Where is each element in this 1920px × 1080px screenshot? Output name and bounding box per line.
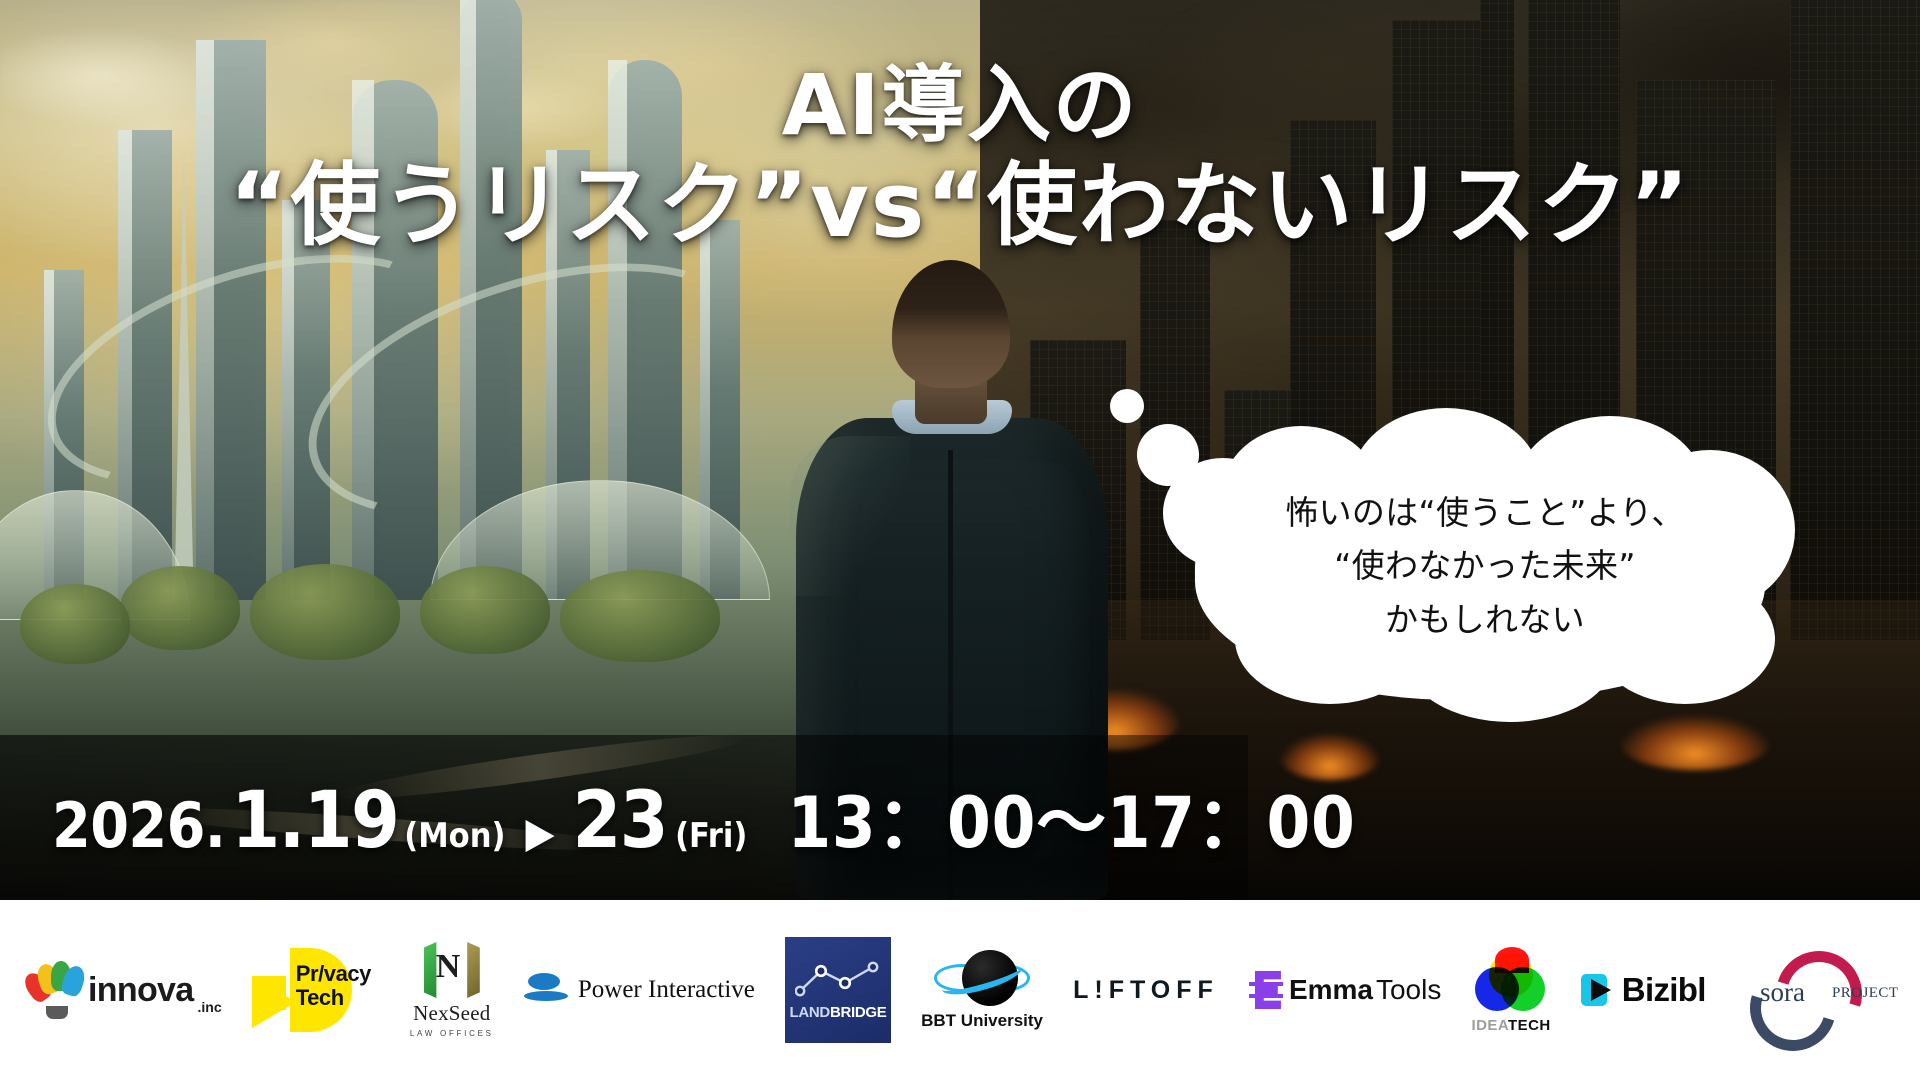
privacytech-label-top: Pr/vacy xyxy=(296,962,371,986)
schedule-year: 2026. xyxy=(52,789,225,862)
utopian-foliage xyxy=(250,564,400,660)
ideatech-label-a: IDEA xyxy=(1471,1017,1508,1034)
landbridge-label-a: LAND xyxy=(789,1004,829,1021)
nexseed-tagline: LAW OFFICES xyxy=(410,1029,494,1038)
sponsor-logo-landbridge[interactable]: LANDBRIDGE xyxy=(785,937,891,1043)
bbt-wordmark: BBT University xyxy=(921,1011,1043,1031)
sponsor-logo-bizibl[interactable]: Bizibl xyxy=(1581,971,1706,1009)
liftoff-wordmark: L!FTOFF xyxy=(1073,976,1219,1005)
sponsor-logo-sora-project[interactable]: sora PROJECT xyxy=(1736,947,1886,1033)
sponsor-logo-liftoff[interactable]: L!FTOFF xyxy=(1073,976,1219,1005)
innova-suffix: .inc xyxy=(198,999,222,1019)
dystopian-ruin xyxy=(1790,0,1920,640)
power-interactive-wordmark: Power Interactive xyxy=(578,976,755,1004)
thought-bubble-dot-small xyxy=(1110,389,1144,423)
schedule-range-arrow-icon: ▶ xyxy=(525,812,554,854)
emmatools-e-icon xyxy=(1249,971,1283,1009)
figure-shoulder-highlight xyxy=(790,436,910,596)
utopian-foliage xyxy=(120,566,240,650)
bubble-line-2: “使わなかった未来” xyxy=(1215,539,1755,592)
privacytech-label-bottom: Tech xyxy=(296,986,371,1010)
sora-label-b: PROJECT xyxy=(1832,985,1899,1002)
bbt-globe-icon xyxy=(934,950,1030,1006)
emmatools-label-a: Emma xyxy=(1289,974,1373,1006)
schedule-end-date: 23 xyxy=(573,776,668,866)
innova-wordmark: innova xyxy=(88,971,194,1010)
sponsor-logo-bbt-university[interactable]: BBT University xyxy=(921,950,1043,1031)
schedule-time: 13：00〜17：00 xyxy=(787,767,1355,868)
sponsor-logo-nexseed[interactable]: N NexSeed LAW OFFICES xyxy=(410,942,494,1038)
bubble-line-1: 怖いのは“使うこと”より、 xyxy=(1215,486,1755,539)
ideatech-venn-icon xyxy=(1475,947,1547,1013)
sora-label-a: sora xyxy=(1760,977,1805,1008)
nexseed-wordmark: NexSeed xyxy=(413,1001,490,1026)
schedule-end-day: (Fri) xyxy=(675,816,747,856)
dystopian-fire xyxy=(1620,716,1770,770)
bubble-line-3: かもしれない xyxy=(1215,593,1755,646)
schedule-start-day: (Mon) xyxy=(404,816,505,856)
utopian-foliage xyxy=(560,570,720,662)
schedule-bar: 2026. 1.19 (Mon) ▶ 23 (Fri) 13：00〜17：00 xyxy=(0,735,1248,900)
sponsor-logo-privacy-tech[interactable]: Pr/vacy Tech xyxy=(252,948,380,1032)
sponsor-logo-innova[interactable]: innova .inc xyxy=(34,961,222,1019)
utopian-foliage xyxy=(420,566,550,654)
webinar-banner: AI導入の “使うリスク”vs“使わないリスク” 怖いのは“使うこと”より、 “… xyxy=(0,0,1920,1080)
emmatools-label-b: Tools xyxy=(1376,974,1441,1006)
sponsor-logo-strip: innova .inc Pr/vacy Tech N NexSeed LAW O… xyxy=(0,900,1920,1080)
innova-bulb-icon xyxy=(34,961,80,1019)
schedule-start-date: 1.19 xyxy=(231,776,398,866)
figure-head xyxy=(892,260,1010,388)
landbridge-chart-icon xyxy=(795,959,881,999)
sora-swirl-icon: sora PROJECT xyxy=(1736,947,1886,1033)
ideatech-label-b: TECH xyxy=(1508,1017,1551,1034)
sponsor-logo-power-interactive[interactable]: Power Interactive xyxy=(524,973,755,1007)
landbridge-label-b: BRIDGE xyxy=(830,1004,887,1021)
bizibl-play-icon xyxy=(1581,974,1615,1006)
power-interactive-icon xyxy=(524,973,568,1007)
bizibl-wordmark: Bizibl xyxy=(1622,971,1706,1009)
sponsor-logo-emmatools[interactable]: Emma Tools xyxy=(1249,971,1441,1009)
thought-bubble: 怖いのは“使うこと”より、 “使わなかった未来” かもしれない xyxy=(1155,424,1805,724)
nexseed-monogram-icon: N xyxy=(424,942,480,998)
utopian-foliage xyxy=(20,584,130,664)
sponsor-logo-ideatech[interactable]: IDEATECH xyxy=(1471,947,1550,1034)
hero-artwork: AI導入の “使うリスク”vs“使わないリスク” 怖いのは“使うこと”より、 “… xyxy=(0,0,1920,900)
thought-bubble-text: 怖いのは“使うこと”より、 “使わなかった未来” かもしれない xyxy=(1215,486,1755,646)
